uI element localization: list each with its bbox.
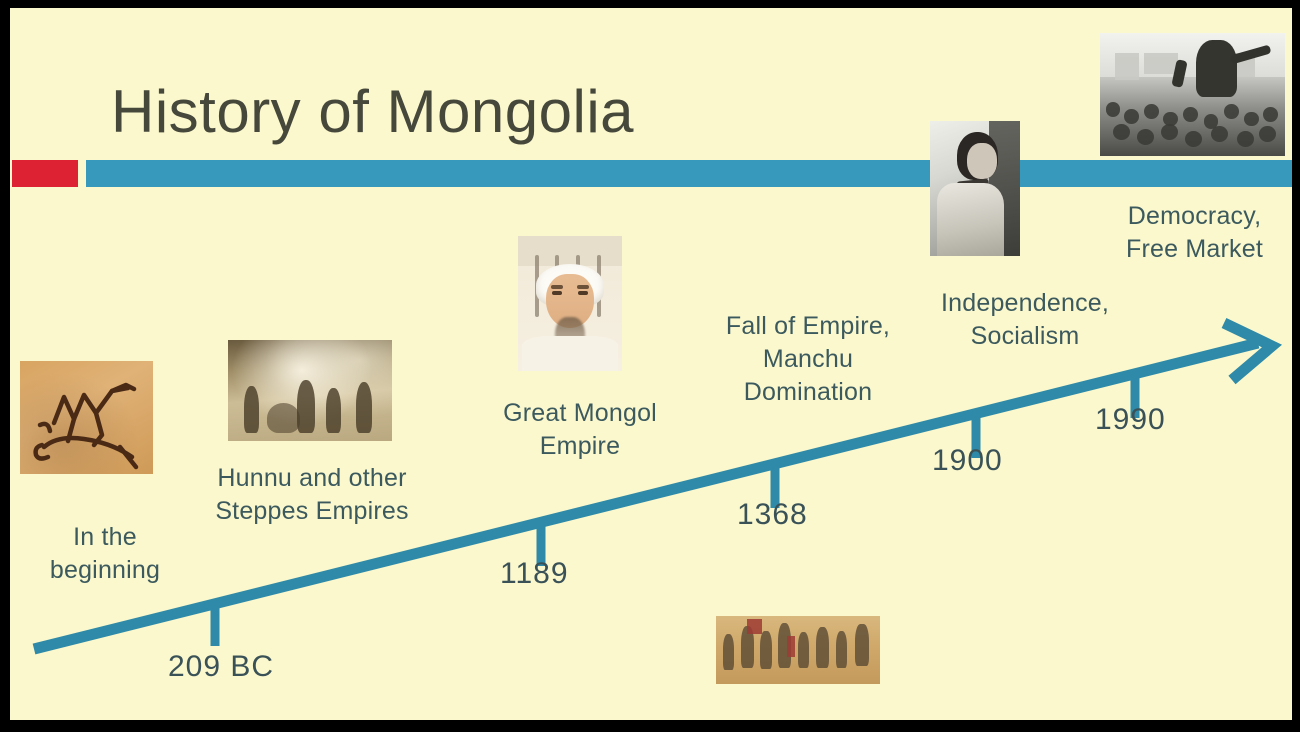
page-title: History of Mongolia — [111, 76, 634, 148]
year-label-1368: 1368 — [737, 498, 808, 532]
year-label-1900: 1900 — [932, 444, 1003, 478]
timeline-arrowhead-icon — [1224, 323, 1272, 380]
image-genghis-khan-portrait — [518, 236, 622, 371]
era-label-hunnu: Hunnu and other Steppes Empires — [192, 462, 432, 528]
era-label-in-the-beginning: In the beginning — [30, 521, 180, 587]
year-label-1189: 1189 — [500, 557, 569, 591]
image-mongol-battle-scene — [716, 616, 880, 684]
era-label-great-mongol-empire: Great Mongol Empire — [470, 397, 690, 463]
year-label-1990: 1990 — [1095, 403, 1166, 437]
era-label-fall-of-empire: Fall of Empire, Manchu Domination — [703, 310, 913, 409]
era-label-democracy-free-market: Democracy, Free Market — [1107, 200, 1282, 266]
image-camel-petroglyph — [20, 361, 153, 474]
slide-canvas: History of Mongolia — [10, 8, 1292, 720]
slide-frame: History of Mongolia — [0, 0, 1300, 732]
image-sukhbaatar-portrait — [930, 121, 1020, 256]
camel-petroglyph-lines — [20, 361, 153, 474]
image-democracy-crowd — [1100, 33, 1285, 156]
year-label-209bc: 209 BC — [168, 650, 274, 684]
era-label-independence-socialism: Independence, Socialism — [920, 287, 1130, 353]
title-divider-rule — [10, 160, 1292, 187]
title-rule-blue-bar — [86, 160, 1292, 187]
image-hunnu-steppes — [228, 340, 392, 441]
title-rule-red-accent — [12, 160, 78, 187]
